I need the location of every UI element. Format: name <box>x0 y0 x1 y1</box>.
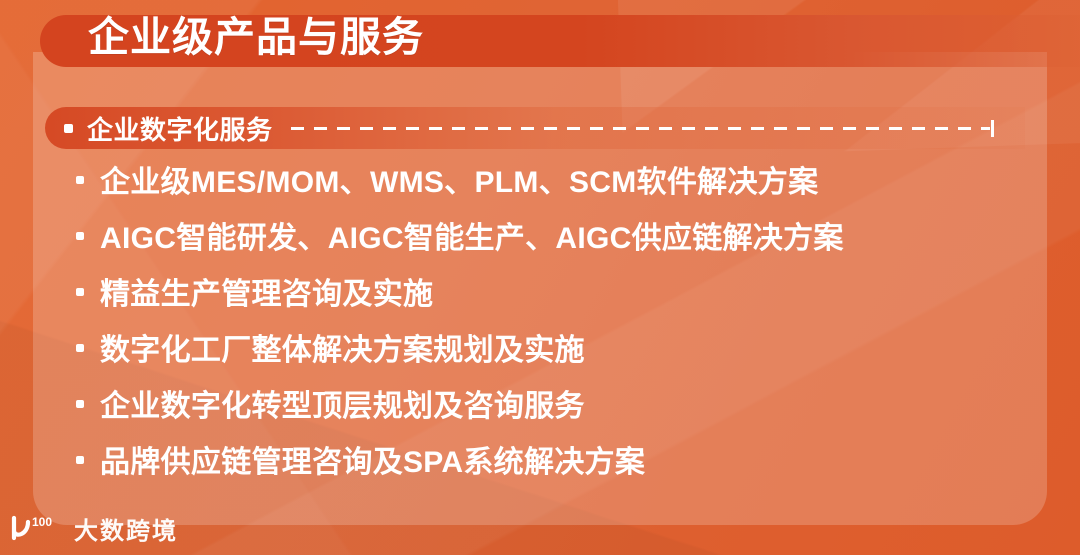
square-bullet-icon <box>76 288 84 296</box>
list-item-label: 企业数字化转型顶层规划及咨询服务 <box>100 387 585 427</box>
logo-mark-number: 100 <box>32 515 52 529</box>
list-item: 品牌供应链管理咨询及SPA系统解决方案 <box>76 443 1036 499</box>
square-bullet-icon <box>64 124 73 133</box>
footer-brand: 100 大数跨境 <box>8 511 178 545</box>
list-item-label: 品牌供应链管理咨询及SPA系统解决方案 <box>100 443 645 483</box>
service-list: 企业级MES/MOM、WMS、PLM、SCM软件解决方案 AIGC智能研发、AI… <box>76 163 1036 499</box>
slide-canvas: 企业级产品与服务 企业数字化服务 企业级MES/MOM、WMS、PLM、SCM软… <box>0 0 1080 555</box>
square-bullet-icon <box>76 456 84 464</box>
list-item: AIGC智能研发、AIGC智能生产、AIGC供应链解决方案 <box>76 219 1036 275</box>
k100-logo-icon: 100 <box>8 513 66 543</box>
list-item: 精益生产管理咨询及实施 <box>76 275 1036 331</box>
list-item: 数字化工厂整体解决方案规划及实施 <box>76 331 1036 387</box>
list-item-label: 数字化工厂整体解决方案规划及实施 <box>100 331 585 371</box>
square-bullet-icon <box>76 400 84 408</box>
brand-name: 大数跨境 <box>74 511 178 546</box>
list-item: 企业数字化转型顶层规划及咨询服务 <box>76 387 1036 443</box>
list-item-label: 企业级MES/MOM、WMS、PLM、SCM软件解决方案 <box>100 163 818 203</box>
section-heading: 企业数字化服务 <box>87 110 273 147</box>
dashed-divider-line <box>291 127 990 130</box>
dashed-divider-icon <box>291 127 1000 130</box>
page-title: 企业级产品与服务 <box>88 12 424 62</box>
list-item-label: AIGC智能研发、AIGC智能生产、AIGC供应链解决方案 <box>100 219 844 259</box>
square-bullet-icon <box>76 344 84 352</box>
list-item-label: 精益生产管理咨询及实施 <box>100 275 433 315</box>
square-bullet-icon <box>76 232 84 240</box>
section-header: 企业数字化服务 <box>64 110 1014 146</box>
list-item: 企业级MES/MOM、WMS、PLM、SCM软件解决方案 <box>76 163 1036 219</box>
dashed-divider-end-cap-icon <box>991 120 994 137</box>
square-bullet-icon <box>76 176 84 184</box>
